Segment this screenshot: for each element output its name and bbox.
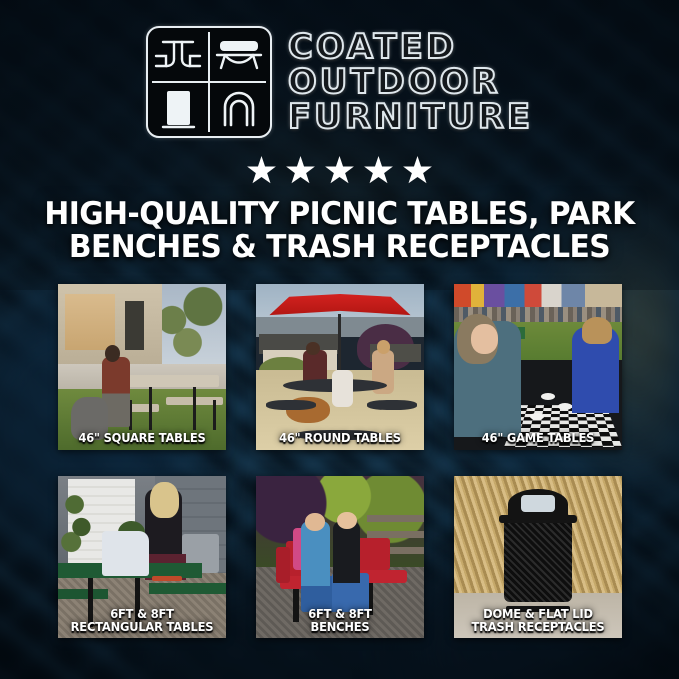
product-tile-rectangular-tables[interactable]: 6FT & 8FT RECTANGULAR TABLES xyxy=(58,476,226,638)
bench-table-side-icon xyxy=(209,28,270,82)
brand-name-line1: COATED xyxy=(288,30,533,64)
product-photo xyxy=(256,284,424,450)
brand-logo: COATED OUTDOOR FURNITURE xyxy=(0,26,679,138)
picnic-table-front-icon xyxy=(148,28,209,82)
star-icon xyxy=(286,156,316,186)
arch-bike-rack-icon xyxy=(209,82,270,136)
star-icon xyxy=(364,156,394,186)
brand-wordmark: COATED OUTDOOR FURNITURE xyxy=(288,30,533,134)
page-title: HIGH-QUALITY PICNIC TABLES, PARK BENCHES… xyxy=(42,198,636,264)
product-caption: DOME & FLAT LID TRASH RECEPTACLES xyxy=(459,608,617,635)
product-caption: 46" ROUND TABLES xyxy=(261,432,419,446)
star-icon xyxy=(325,156,355,186)
product-tile-game-tables[interactable]: 46" GAME TABLES xyxy=(454,284,622,450)
product-caption-line2: RECTANGULAR TABLES xyxy=(63,621,221,635)
product-photo xyxy=(454,284,622,450)
product-caption-line2: BENCHES xyxy=(261,621,419,635)
product-caption-line1: 6FT & 8FT xyxy=(63,608,221,622)
product-caption: 46" GAME TABLES xyxy=(459,432,617,446)
star-rating xyxy=(0,156,679,186)
headline-line1: HIGH-QUALITY PICNIC TABLES, PARK xyxy=(44,196,634,232)
product-caption-line2: TRASH RECEPTACLES xyxy=(459,621,617,635)
brand-name-line3: FURNITURE xyxy=(288,100,533,134)
product-tile-benches[interactable]: 6FT & 8FT BENCHES xyxy=(256,476,424,638)
product-tile-square-tables[interactable]: 46" SQUARE TABLES xyxy=(58,284,226,450)
star-icon xyxy=(403,156,433,186)
product-caption-line1: DOME & FLAT LID xyxy=(459,608,617,622)
product-tile-round-tables[interactable]: 46" ROUND TABLES xyxy=(256,284,424,450)
logo-mark-icon xyxy=(146,26,272,138)
product-caption: 6FT & 8FT BENCHES xyxy=(261,608,419,635)
product-caption: 6FT & 8FT RECTANGULAR TABLES xyxy=(63,608,221,635)
headline-line2: BENCHES & TRASH RECEPTACLES xyxy=(42,231,636,264)
product-tile-trash-receptacles[interactable]: DOME & FLAT LID TRASH RECEPTACLES xyxy=(454,476,622,638)
brand-name-line2: OUTDOOR xyxy=(288,65,533,99)
product-caption-line1: 6FT & 8FT xyxy=(261,608,419,622)
promo-banner: COATED OUTDOOR FURNITURE HIGH-QUALITY PI… xyxy=(0,0,679,679)
product-grid: 46" SQUARE TABLES xyxy=(58,284,622,638)
logo-divider-horizontal xyxy=(152,81,266,83)
product-caption: 46" SQUARE TABLES xyxy=(63,432,221,446)
star-icon xyxy=(247,156,277,186)
trash-receptacle-icon xyxy=(148,82,209,136)
product-photo xyxy=(58,284,226,450)
